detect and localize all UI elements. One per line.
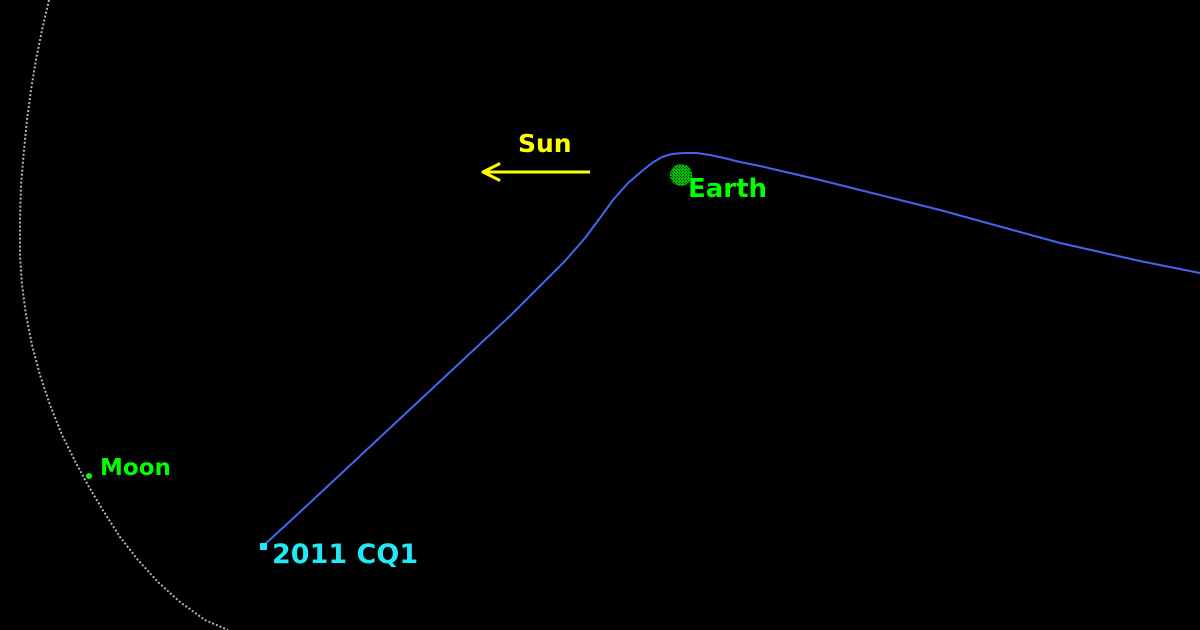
diagram-svg: [0, 0, 1200, 630]
asteroid-trajectory-path: [263, 153, 1200, 546]
moon-label: Moon: [100, 457, 171, 480]
moon-orbit-path: [20, 0, 228, 630]
sun-label: Sun: [518, 131, 572, 156]
earth-label: Earth: [688, 176, 767, 202]
asteroid-marker: [260, 543, 267, 550]
orbital-diagram-canvas: Sun Earth Moon 2011 CQ1: [0, 0, 1200, 630]
sun-direction-arrow: [483, 164, 590, 180]
asteroid-label: 2011 CQ1: [272, 541, 418, 568]
moon-marker: [86, 473, 92, 479]
